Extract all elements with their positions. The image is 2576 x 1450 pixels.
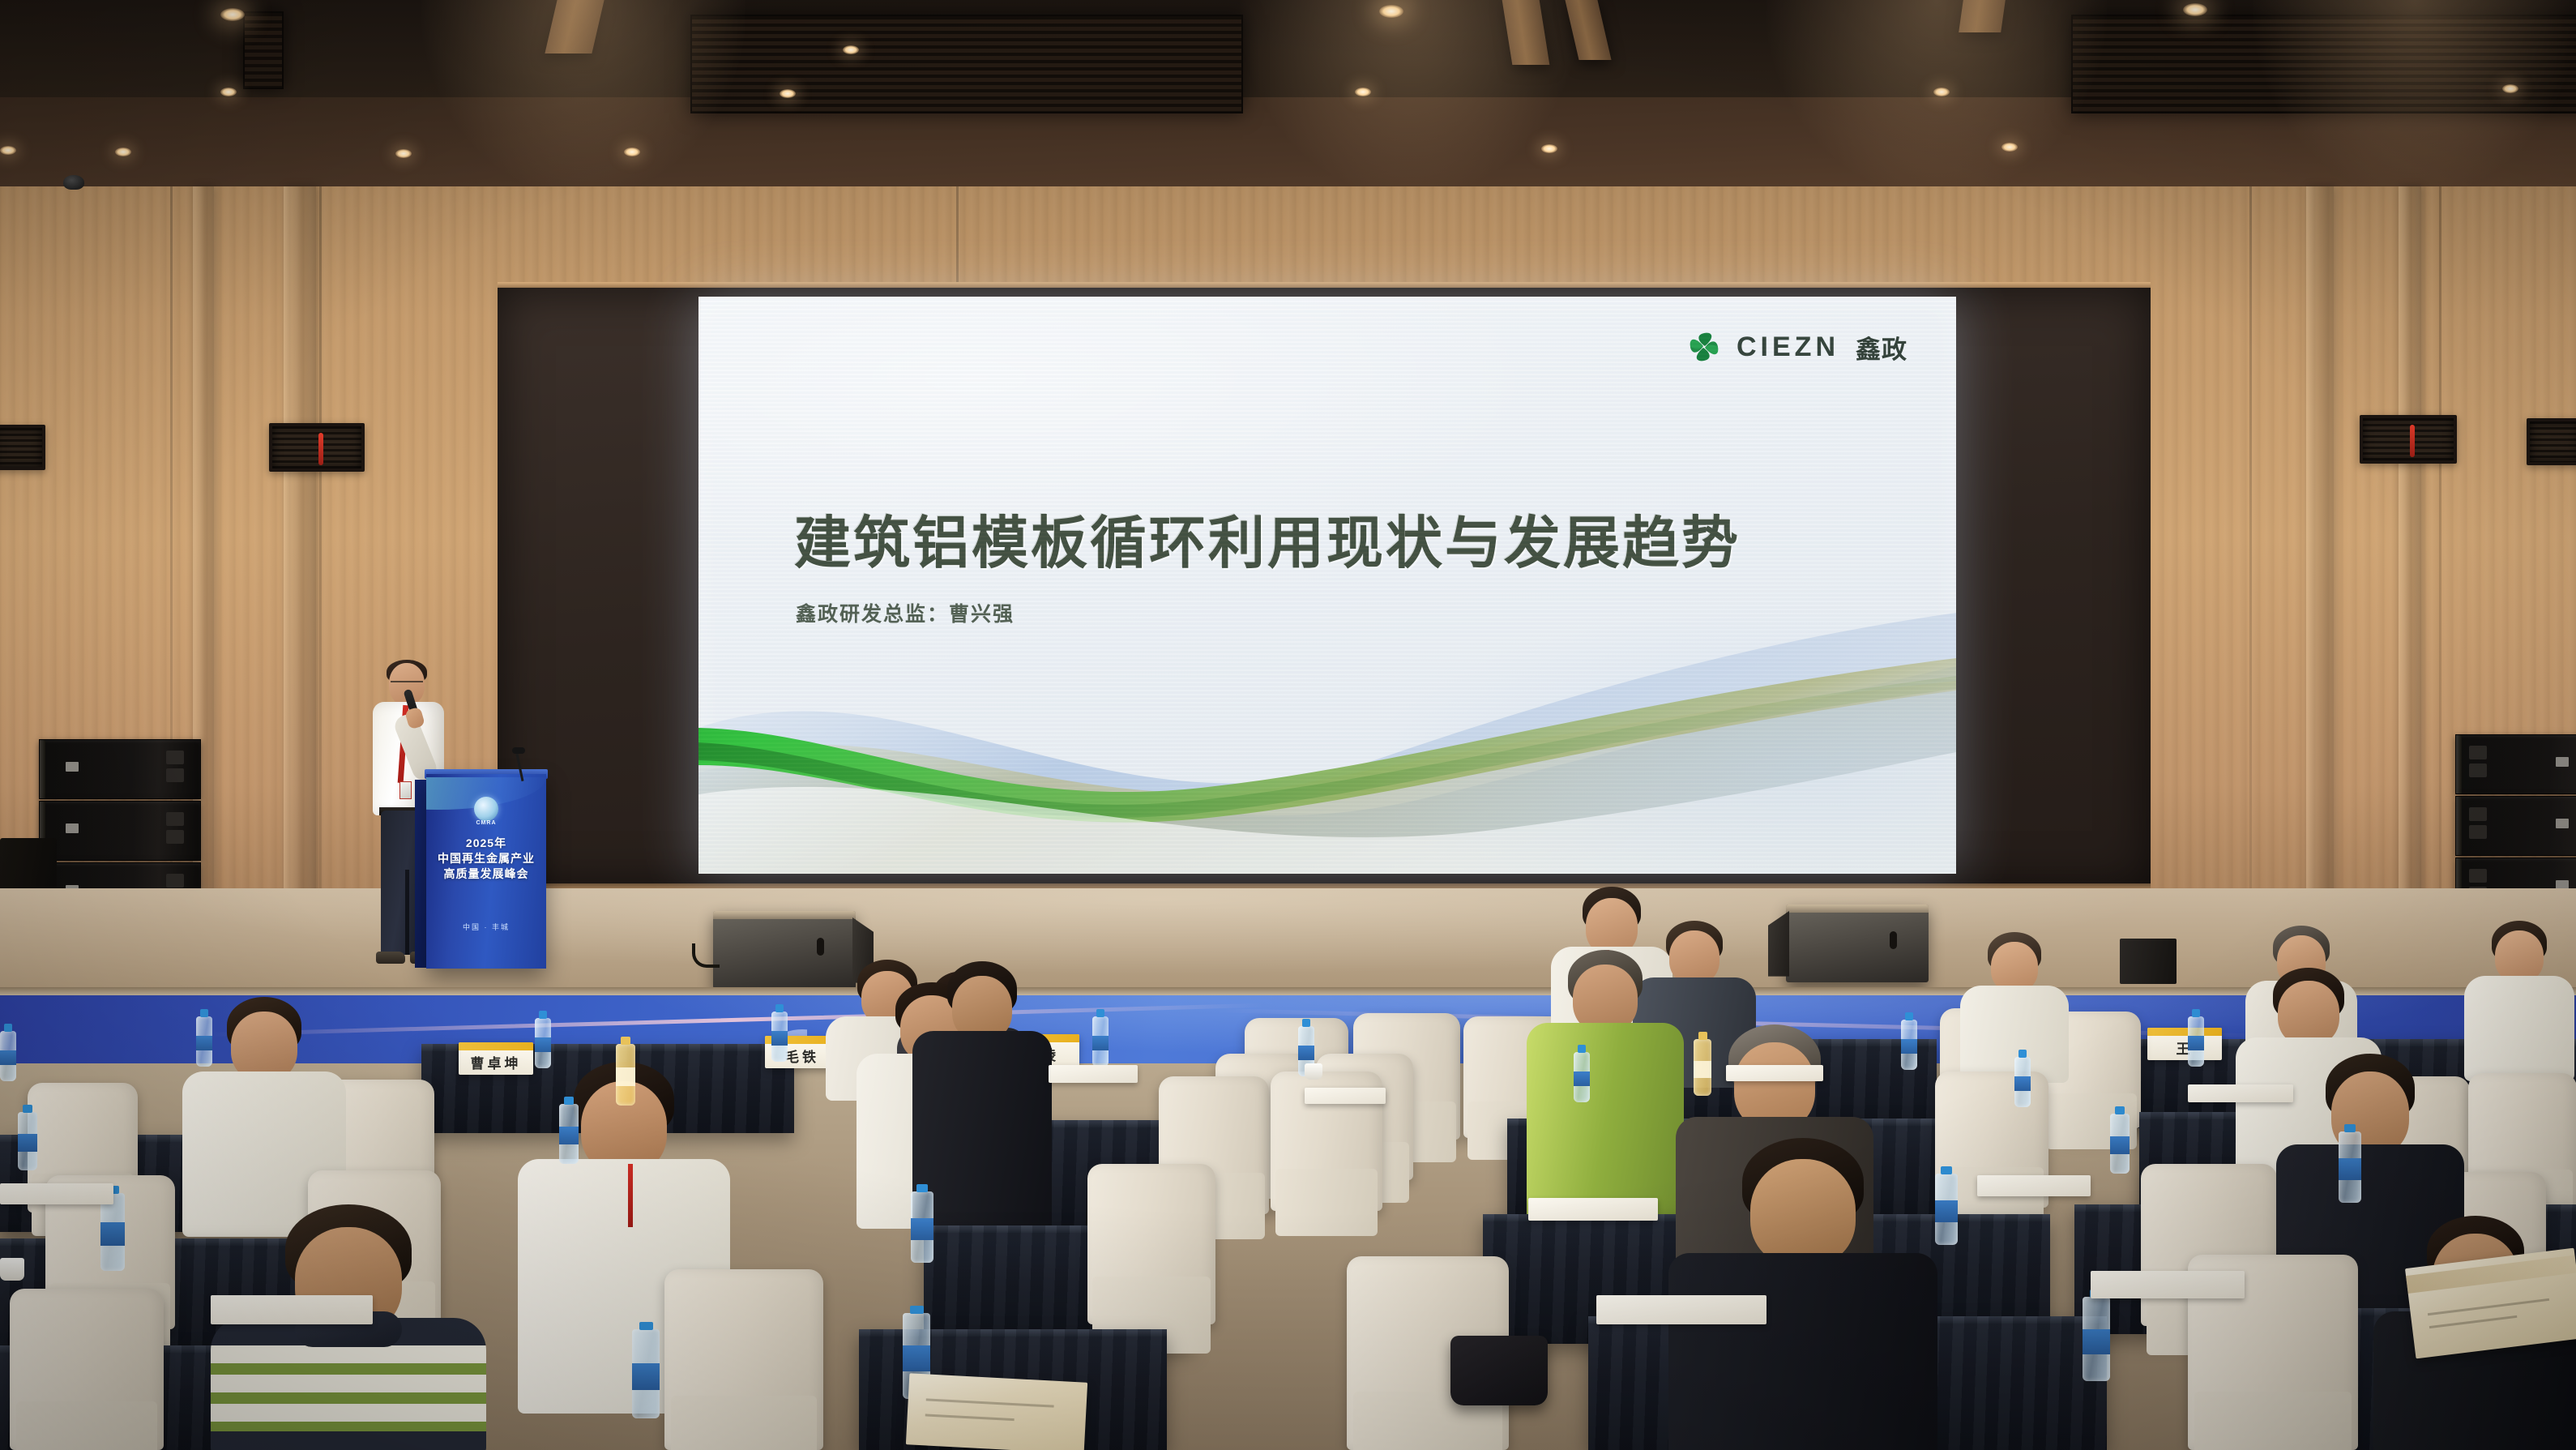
- attendee-torso: [2464, 976, 2574, 1081]
- bottle-label: [1298, 1046, 1314, 1061]
- bottle-label: [2014, 1076, 2031, 1092]
- chair-skirt: [2194, 1392, 2351, 1450]
- audience-chair: [10, 1289, 164, 1450]
- bottle-label: [2339, 1158, 2361, 1179]
- name-placard-4: 王: [2147, 1028, 2222, 1060]
- slide-brand-logo: CIEZN 鑫政: [1683, 326, 1907, 368]
- chair-skirt: [16, 1401, 158, 1450]
- water-bottle: [1901, 1020, 1917, 1070]
- program-booklet: [906, 1373, 1087, 1450]
- chair-skirt: [671, 1396, 817, 1450]
- booklet-text-line: [2429, 1315, 2518, 1328]
- array-badge: [2556, 819, 2569, 828]
- attendee-far-3: [1961, 932, 2068, 1075]
- paper-cup: [1305, 1063, 1322, 1080]
- audience-chair: [664, 1269, 823, 1450]
- array-horn: [166, 874, 184, 888]
- bottle-label: [616, 1067, 635, 1086]
- attendee-foreground-right: [1669, 1138, 1937, 1450]
- bottle-label: [196, 1036, 212, 1051]
- note-paper: [2091, 1271, 2245, 1298]
- ceiling-downlight-row-3: [1355, 88, 1371, 96]
- booklet-text-line: [926, 1398, 1054, 1407]
- wall-air-vent-right-2: [2527, 418, 2576, 465]
- brand-wordmark: CIEZN: [1737, 331, 1839, 363]
- ceiling-slat-panel-1: [690, 15, 1243, 113]
- attendee-foreground-striped: [211, 1204, 486, 1450]
- audience-chair: [1087, 1164, 1215, 1324]
- vent-red-marker: [318, 433, 323, 465]
- note-paper: [0, 1183, 113, 1204]
- wall-pillar-right-b: [2399, 186, 2421, 916]
- note-paper: [211, 1295, 373, 1324]
- vent-red-marker-right: [2410, 425, 2415, 457]
- ceiling-downlight-row-7: [115, 148, 131, 156]
- array-badge: [66, 823, 79, 833]
- placard-name-text: 王: [2147, 1037, 2222, 1058]
- water-bottle: [196, 1016, 212, 1067]
- array-horn: [2469, 869, 2487, 883]
- podium-event-line2: 高质量发展峰会: [426, 866, 546, 882]
- booklet-text-line: [925, 1414, 1015, 1422]
- stage-monitor-right: [1786, 905, 1929, 982]
- bottle-label: [1935, 1200, 1958, 1221]
- attendee-r2-4: [1528, 950, 1682, 1232]
- bottle-label: [2188, 1036, 2204, 1051]
- array-badge: [66, 762, 79, 772]
- array-horn: [166, 812, 184, 826]
- placard-header-band: [2147, 1028, 2222, 1036]
- attendee-far-5: [2465, 921, 2574, 1075]
- podium-location: 中国 · 丰城: [426, 922, 546, 932]
- water-bottle: [2188, 1016, 2204, 1067]
- bottle-label: [2110, 1136, 2130, 1154]
- slide-wave-graphic: [698, 606, 1956, 874]
- array-badge: [2556, 757, 2569, 767]
- attendee-r2-3: [914, 961, 1050, 1229]
- ceiling-beam-4: [1959, 0, 2006, 32]
- line-array-box: [2455, 734, 2576, 794]
- note-paper: [1305, 1088, 1386, 1104]
- water-bottle: [1935, 1174, 1958, 1245]
- ceiling-slat-panel-left: [243, 11, 284, 89]
- presenter-glasses: [391, 681, 423, 688]
- water-bottle: [771, 1012, 788, 1062]
- podium-event-year: 2025年: [426, 835, 546, 851]
- cmra-logo-icon: [474, 797, 498, 821]
- ceiling-downlight-2: [1379, 5, 1403, 18]
- monitor-handle: [817, 938, 824, 956]
- water-bottle: [535, 1018, 551, 1068]
- array-rail: [40, 740, 45, 798]
- podium-event-line1: 中国再生金属产业: [426, 850, 546, 866]
- bottle-label: [771, 1031, 788, 1046]
- water-bottle: [559, 1104, 579, 1164]
- ceiling-downlight-3: [2183, 3, 2207, 16]
- attendee-torso: [1668, 1253, 1937, 1450]
- ceiling-downlight-1: [220, 8, 245, 21]
- line-array-box: [39, 739, 201, 799]
- line-array-box: [39, 801, 201, 861]
- ceiling-downlight-4: [843, 45, 859, 54]
- water-bottle: [2339, 1131, 2361, 1203]
- monitor-top-edge: [1786, 905, 1929, 913]
- podium-lectern: CMRA 2025年 中国再生金属产业 高质量发展峰会 中国 · 丰城: [426, 774, 546, 969]
- podium-mic-head: [512, 747, 525, 754]
- water-bottle-tea: [616, 1044, 635, 1106]
- bottle-label: [911, 1218, 933, 1239]
- ceiling: [0, 0, 2576, 203]
- note-paper: [1049, 1065, 1138, 1083]
- slide-title: 建筑铝模板循环利用现状与发展趋势: [794, 498, 1741, 580]
- water-bottle: [18, 1112, 37, 1170]
- wall-pillar-left-b: [284, 186, 316, 916]
- water-bottle: [2083, 1297, 2110, 1381]
- attendee-lanyard: [628, 1164, 633, 1227]
- bottle-label: [18, 1134, 37, 1152]
- note-paper: [1596, 1295, 1766, 1324]
- slide-subtitle: 鑫政研发总监：曹兴强: [796, 598, 1015, 627]
- ceiling-downlight-row-8: [395, 149, 412, 158]
- water-bottle: [100, 1193, 125, 1271]
- ceiling-downlight-row-1: [220, 88, 237, 96]
- presenter-badge: [399, 781, 412, 799]
- wall-air-vent-left-2: [269, 423, 365, 472]
- attendee-head: [1991, 942, 2038, 992]
- array-rail: [2456, 735, 2462, 793]
- brand-wordmark-cn: 鑫政: [1856, 329, 1907, 366]
- ceiling-downlight-row-9: [624, 148, 640, 156]
- bottle-label: [2083, 1329, 2110, 1354]
- water-bottle: [1574, 1052, 1590, 1102]
- ciezn-pinwheel-icon: [1683, 326, 1725, 368]
- attendee-head: [2495, 930, 2544, 982]
- cmra-logo-text: CMRA: [476, 820, 497, 826]
- stage-floor-box: [2120, 939, 2177, 984]
- array-horn: [2469, 746, 2487, 759]
- presenter-shoe-left: [376, 952, 405, 964]
- conference-bag: [1450, 1336, 1548, 1405]
- wall-pillar-right-a: [2306, 186, 2334, 916]
- booklet-text-line: [2428, 1298, 2549, 1315]
- ceiling-camera-dome: [63, 175, 84, 190]
- water-bottle: [632, 1329, 660, 1418]
- led-presentation-screen[interactable]: CIEZN 鑫政 建筑铝模板循环利用现状与发展趋势 鑫政研发总监：曹兴强: [698, 297, 1956, 874]
- bottle-label: [903, 1345, 930, 1371]
- bottle-label: [100, 1222, 125, 1246]
- array-rail: [2456, 797, 2462, 855]
- ceiling-downlight-row-5: [2502, 84, 2518, 93]
- bottle-label: [1092, 1036, 1109, 1051]
- attendee-head: [2278, 981, 2339, 1046]
- bottle-label: [1694, 1061, 1711, 1078]
- monitor-handle: [1890, 931, 1897, 949]
- monitor-top-edge: [713, 911, 856, 919]
- ceiling-downlight-row-11: [2001, 143, 2018, 152]
- paper-cup: [0, 1258, 24, 1281]
- bottle-label: [1574, 1071, 1590, 1087]
- bottle-label: [559, 1127, 579, 1144]
- water-bottle: [1092, 1016, 1109, 1067]
- wall-seam-2: [319, 186, 322, 916]
- ceiling-downlight-row-2: [780, 89, 796, 98]
- array-horn: [2469, 807, 2487, 821]
- water-bottle: [2014, 1057, 2031, 1107]
- note-paper: [2188, 1084, 2293, 1102]
- wall-seam-4: [2249, 186, 2252, 916]
- line-array-box: [2455, 796, 2576, 856]
- water-bottle: [0, 1031, 16, 1081]
- note-paper: [1528, 1198, 1658, 1221]
- wall-air-vent-left-1: [0, 425, 45, 470]
- wall-seam-5: [2439, 186, 2441, 916]
- bottle-label: [535, 1037, 551, 1053]
- array-horn: [166, 751, 184, 764]
- note-paper: [1726, 1065, 1823, 1081]
- ceiling-slat-panel-2: [2071, 15, 2576, 113]
- water-bottle-tea: [1694, 1039, 1711, 1096]
- bottle-label: [1901, 1039, 1917, 1054]
- bottle-label: [0, 1050, 16, 1066]
- ceiling-downlight-row-10: [1541, 144, 1557, 153]
- attendee-head: [1750, 1159, 1856, 1266]
- water-bottle: [2110, 1114, 2130, 1174]
- water-bottle: [911, 1191, 933, 1263]
- note-paper: [1977, 1175, 2091, 1196]
- bottle-label: [632, 1363, 660, 1390]
- ceiling-downlight-row-6: [0, 146, 16, 155]
- wall-air-vent-right-1: [2360, 415, 2457, 464]
- placard-header-band: [459, 1042, 533, 1050]
- ceiling-downlight-row-4: [1933, 88, 1950, 96]
- conference-hall-photo: CIEZN 鑫政 建筑铝模板循环利用现状与发展趋势 鑫政研发总监：曹兴强: [0, 0, 2576, 1450]
- presenter-leg-gap: [405, 870, 409, 955]
- chair-skirt: [1275, 1169, 1378, 1236]
